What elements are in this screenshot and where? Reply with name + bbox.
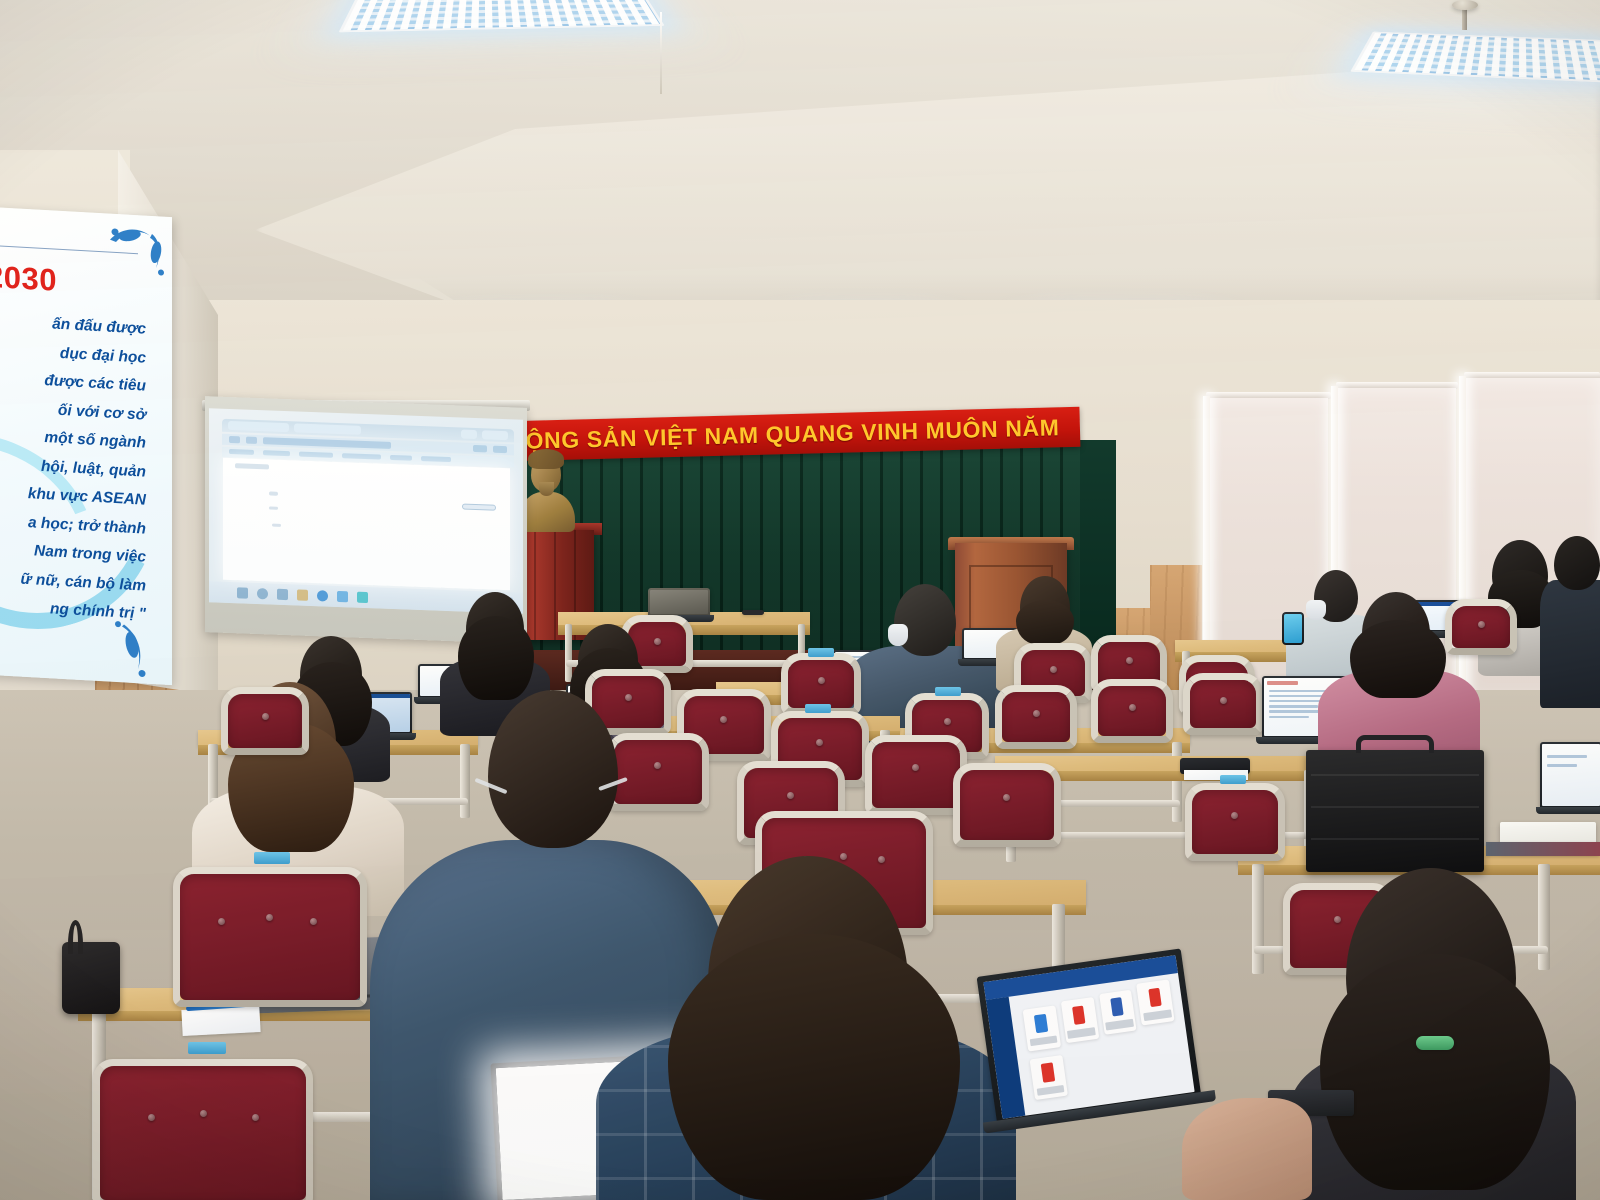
chair-foreground-left[interactable] — [180, 874, 360, 1000]
file-tile[interactable] — [1136, 980, 1174, 1026]
chair-left-mid[interactable] — [960, 770, 1054, 840]
laptop-far-right[interactable] — [1540, 742, 1600, 808]
presenter-laptop[interactable] — [648, 588, 710, 616]
chair-left-mid[interactable] — [228, 694, 302, 748]
projection-screen-surface — [209, 408, 523, 614]
conference-room-photo: 2030 ấn đấu được dục đại học được các ti… — [0, 0, 1600, 1200]
projected-page-button — [462, 503, 496, 510]
file-tile[interactable] — [1023, 1006, 1061, 1052]
red-banner-text: ỘNG SẢN VIỆT NAM QUANG VINH MUÔN NĂM — [525, 414, 1060, 455]
desk-leg — [1252, 864, 1264, 974]
file-tile[interactable] — [1029, 1055, 1067, 1101]
laptop-foreground-thinkpad[interactable] — [977, 948, 1202, 1125]
ho-chi-minh-bust — [519, 452, 575, 530]
task-view-icon — [277, 589, 288, 600]
file-tile[interactable] — [1061, 997, 1099, 1043]
thinkpad-screen — [983, 955, 1194, 1119]
file-tile[interactable] — [1099, 989, 1137, 1035]
person-front-right-ponytail — [1300, 868, 1560, 1200]
black-briefcase[interactable] — [1306, 750, 1484, 872]
chair-left-mid[interactable] — [872, 742, 960, 808]
light-pull-cord — [660, 12, 662, 94]
hair-tie — [1416, 1036, 1454, 1050]
pdf-icon — [1041, 1063, 1055, 1083]
explorer-icon — [297, 589, 308, 600]
book-stack — [1486, 842, 1600, 856]
pdf-icon — [1072, 1005, 1086, 1025]
chair-row-2[interactable] — [1190, 680, 1256, 728]
person-front-blue-plaid — [596, 856, 1016, 1200]
face-mask — [888, 624, 908, 646]
wall-banner-poster: 2030 ấn đấu được dục đại học được các ti… — [0, 207, 172, 685]
person-dark-suit-standing — [1540, 536, 1600, 706]
cable-clutter — [742, 610, 764, 615]
smartphone[interactable] — [1282, 612, 1304, 645]
briefcase-handle[interactable] — [1356, 735, 1434, 753]
black-handbag[interactable] — [62, 942, 120, 1014]
browser-icon — [317, 590, 328, 601]
banner-body-text: ấn đấu được dục đại học được các tiêu ối… — [0, 307, 168, 631]
desk-leg — [1172, 742, 1182, 822]
chair-row-2[interactable] — [1098, 686, 1166, 736]
sprinkler-icon — [1452, 0, 1478, 10]
search-icon — [257, 588, 268, 599]
chair-center[interactable] — [788, 660, 854, 708]
pdf-icon — [1148, 988, 1162, 1008]
chair-right-foreground[interactable] — [1192, 790, 1278, 854]
file-icon — [1034, 1014, 1048, 1034]
chair-foreground-left-2[interactable] — [100, 1066, 306, 1200]
projected-web-page — [223, 458, 510, 590]
person-front-right-hand — [1182, 1098, 1312, 1200]
app-icon — [337, 591, 348, 602]
windows-start-icon — [237, 587, 248, 598]
chair-row-2[interactable] — [1002, 692, 1070, 742]
app-icon — [357, 592, 368, 603]
file-icon — [1110, 997, 1124, 1017]
